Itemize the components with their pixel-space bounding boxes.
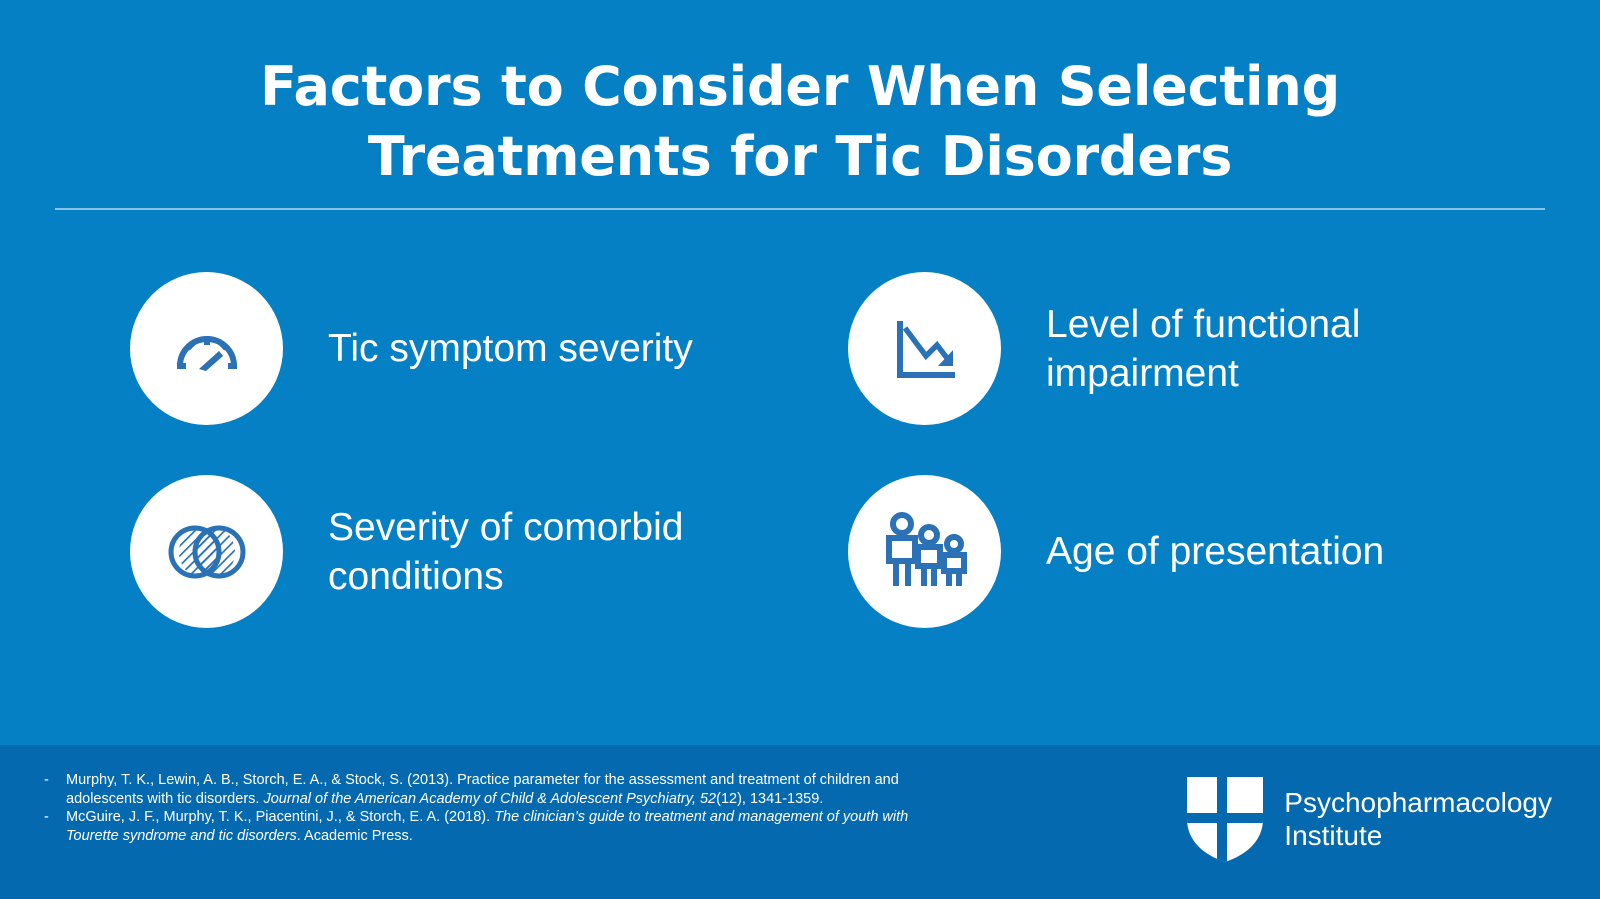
reference-bullet: - [44,771,66,808]
factor-label: Age of presentation [1046,527,1384,576]
brand-logo: Psychopharmacology Institute [1184,773,1552,865]
slide-root: Factors to Consider When Selecting Treat… [0,0,1600,899]
references-list: - Murphy, T. K., Lewin, A. B., Storch, E… [44,771,944,845]
factors-grid: Tic symptom severity Level of functional… [0,262,1600,642]
reference-text-part1: McGuire, J. F., Murphy, T. K., Piacentin… [66,809,494,825]
factor-item-age-of-presentation: Age of presentation [848,475,1384,628]
shield-logo-icon [1184,773,1266,865]
factor-item-level-of-functional-impairment: Level of functional impairment [848,272,1446,425]
title-line-1: Factors to Consider When Selecting [120,52,1480,122]
brand-name-line-2: Institute [1284,819,1552,852]
reference-text: McGuire, J. F., Murphy, T. K., Piacentin… [66,808,944,845]
reference-text: Murphy, T. K., Lewin, A. B., Storch, E. … [66,771,944,808]
people-group-icon [881,510,969,594]
icon-bubble [848,272,1001,425]
venn-diagram-icon [165,510,249,594]
factor-label: Level of functional impairment [1046,300,1446,398]
factor-item-severity-of-comorbid-conditions: Severity of comorbid conditions [130,475,748,628]
page-title: Factors to Consider When Selecting Treat… [0,52,1600,192]
factor-label: Severity of comorbid conditions [328,503,748,601]
reference-bullet: - [44,808,66,845]
factor-label: Tic symptom severity [328,324,693,373]
declining-chart-icon [885,309,965,389]
brand-name: Psychopharmacology Institute [1284,786,1552,852]
footer-band: - Murphy, T. K., Lewin, A. B., Storch, E… [0,745,1600,899]
reference-item: - Murphy, T. K., Lewin, A. B., Storch, E… [44,771,944,808]
title-line-2: Treatments for Tic Disorders [120,122,1480,192]
reference-text-part2: . Academic Press. [297,828,413,844]
brand-name-line-1: Psychopharmacology [1284,786,1552,819]
icon-bubble [848,475,1001,628]
reference-text-italic: Journal of the American Academy of Child… [263,791,716,807]
reference-text-part2: (12), 1341-1359. [716,791,823,807]
gauge-icon [167,309,247,389]
icon-bubble [130,272,283,425]
factor-item-tic-symptom-severity: Tic symptom severity [130,272,693,425]
icon-bubble [130,475,283,628]
title-divider [55,208,1545,210]
reference-item: - McGuire, J. F., Murphy, T. K., Piacent… [44,808,944,845]
